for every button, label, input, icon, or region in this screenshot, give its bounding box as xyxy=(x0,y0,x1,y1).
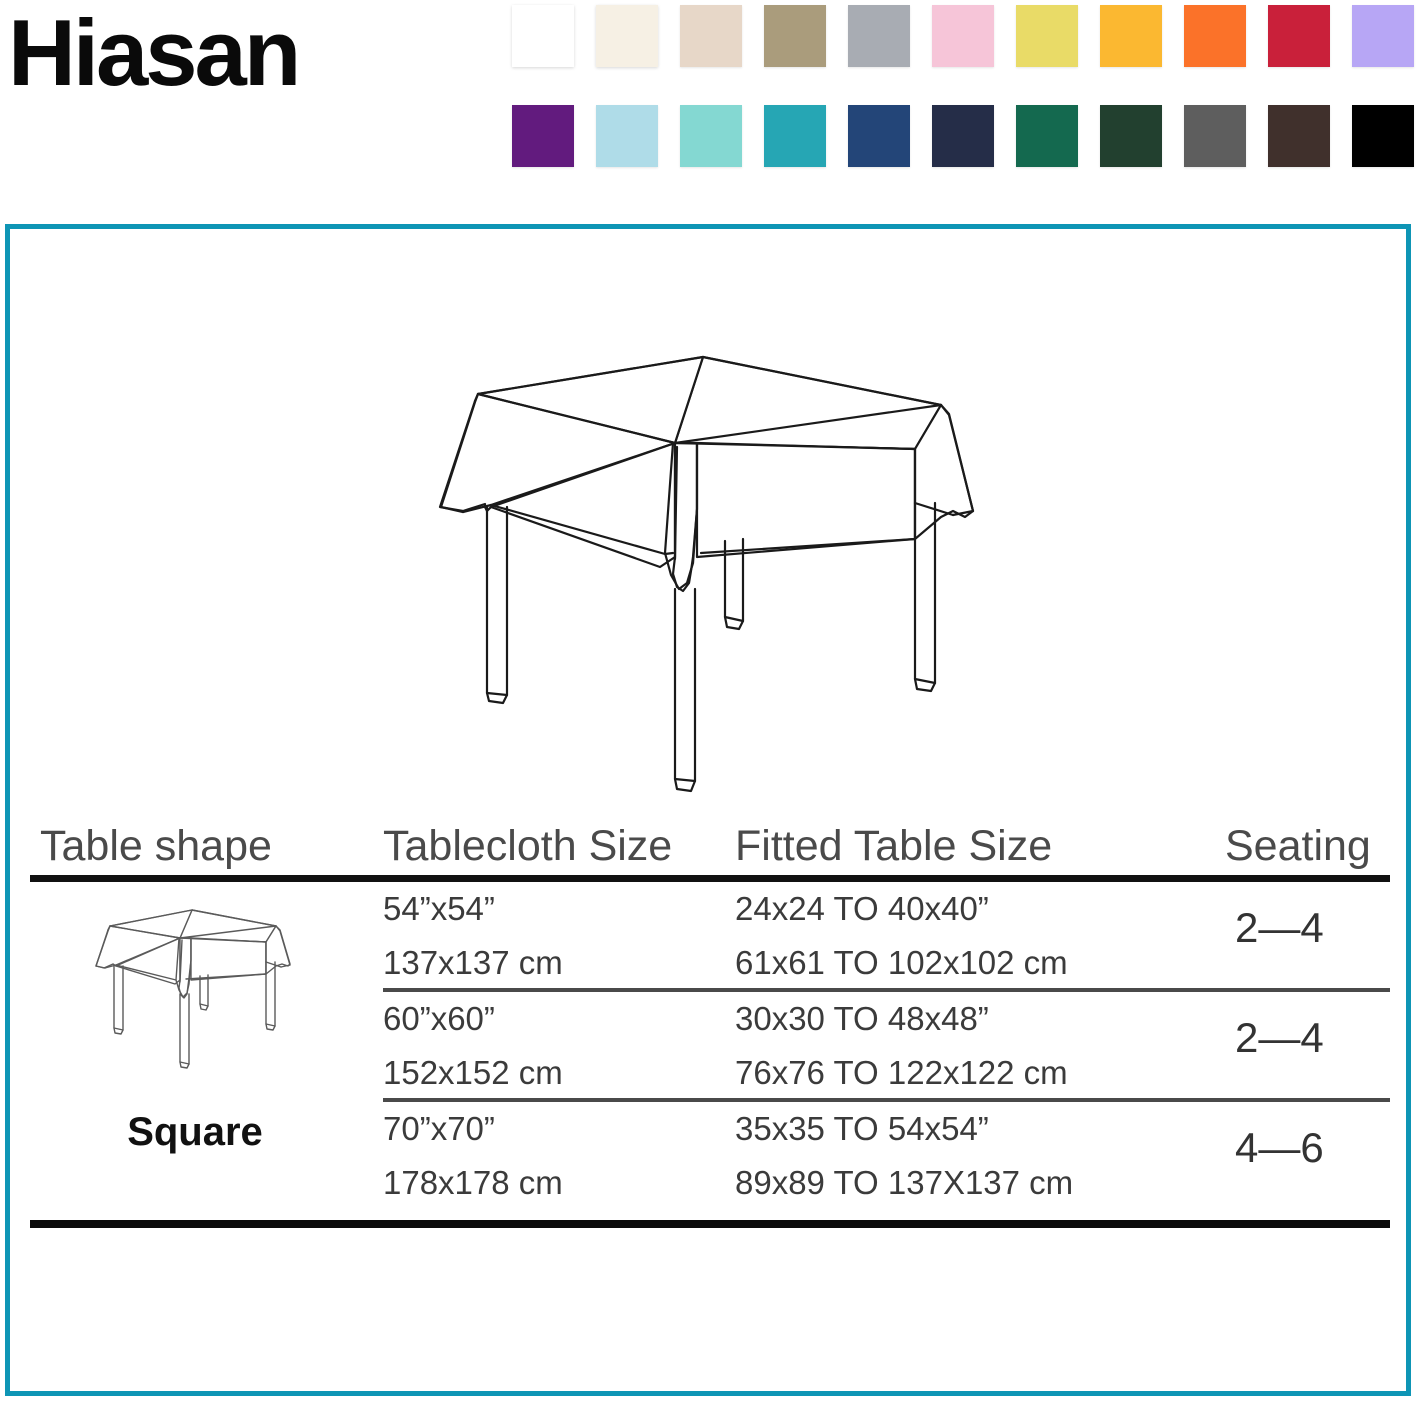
column-header-fitted-table-size: Fitted Table Size xyxy=(735,822,1052,871)
column-header-seating: Seating xyxy=(1225,822,1371,871)
hero-table-illustration xyxy=(425,339,985,809)
color-swatch-taupe[interactable] xyxy=(764,5,826,67)
cloth-size-cm: 152x152 cm xyxy=(383,1054,563,1092)
hero-table-svg xyxy=(425,339,985,809)
color-swatch-orange[interactable] xyxy=(1184,5,1246,67)
color-swatch-white[interactable] xyxy=(512,5,574,67)
size-table-header-row: Table shape Tablecloth Size Fitted Table… xyxy=(30,809,1390,871)
fitted-size-inches: 30x30 TO 48x48” xyxy=(735,1000,1068,1038)
cell-tablecloth-size: 54”x54” 137x137 cm xyxy=(383,882,563,982)
cell-fitted-table-size: 24x24 TO 40x40” 61x61 TO 102x102 cm xyxy=(735,882,1068,982)
fitted-size-cm: 89x89 TO 137X137 cm xyxy=(735,1164,1073,1202)
cloth-size-cm: 178x178 cm xyxy=(383,1164,563,1202)
color-swatch-navy-blue[interactable] xyxy=(848,105,910,167)
header-rule xyxy=(30,875,1390,882)
color-swatch-teal[interactable] xyxy=(764,105,826,167)
color-swatch-lavender[interactable] xyxy=(1352,5,1414,67)
color-swatch-purple[interactable] xyxy=(512,105,574,167)
column-header-tablecloth-size: Tablecloth Size xyxy=(383,822,672,871)
cloth-size-inches: 60”x60” xyxy=(383,1000,563,1038)
color-swatch-hunter-green[interactable] xyxy=(1100,105,1162,167)
size-table-body: Square 54”x54” 137x137 cm 24x24 TO 40x40… xyxy=(30,882,1390,1220)
color-swatch-charcoal-gray[interactable] xyxy=(1184,105,1246,167)
table-row: 54”x54” 137x137 cm 24x24 TO 40x40” 61x61… xyxy=(30,882,1390,992)
brand-logo: Hiasan xyxy=(8,6,298,100)
cell-seating: 2—4 xyxy=(1235,1014,1324,1062)
info-panel: Table shape Tablecloth Size Fitted Table… xyxy=(5,224,1411,1396)
color-swatch-black[interactable] xyxy=(1352,105,1414,167)
column-header-table-shape: Table shape xyxy=(40,822,272,871)
color-swatch-dark-brown[interactable] xyxy=(1268,105,1330,167)
color-swatch-aqua[interactable] xyxy=(680,105,742,167)
fitted-size-inches: 35x35 TO 54x54” xyxy=(735,1110,1073,1148)
color-swatch-marigold[interactable] xyxy=(1100,5,1162,67)
color-swatch-ivory[interactable] xyxy=(596,5,658,67)
cloth-size-inches: 54”x54” xyxy=(383,890,563,928)
color-swatch-yellow[interactable] xyxy=(1016,5,1078,67)
cloth-size-inches: 70”x70” xyxy=(383,1110,563,1148)
cell-fitted-table-size: 35x35 TO 54x54” 89x89 TO 137X137 cm xyxy=(735,1102,1073,1202)
size-table: Table shape Tablecloth Size Fitted Table… xyxy=(30,809,1390,1228)
color-swatch-beige[interactable] xyxy=(680,5,742,67)
color-swatch-midnight-navy[interactable] xyxy=(932,105,994,167)
color-swatch-red[interactable] xyxy=(1268,5,1330,67)
color-swatch-silver-gray[interactable] xyxy=(848,5,910,67)
cell-tablecloth-size: 70”x70” 178x178 cm xyxy=(383,1102,563,1202)
color-swatch-light-pink[interactable] xyxy=(932,5,994,67)
header-band: Hiasan xyxy=(0,0,1416,200)
cell-seating: 4—6 xyxy=(1235,1124,1324,1172)
cell-tablecloth-size: 60”x60” 152x152 cm xyxy=(383,992,563,1092)
cell-seating: 2—4 xyxy=(1235,904,1324,952)
color-swatch-grid xyxy=(512,5,1402,205)
table-bottom-rule xyxy=(30,1220,1390,1228)
fitted-size-cm: 76x76 TO 122x122 cm xyxy=(735,1054,1068,1092)
cell-fitted-table-size: 30x30 TO 48x48” 76x76 TO 122x122 cm xyxy=(735,992,1068,1092)
color-swatch-emerald[interactable] xyxy=(1016,105,1078,167)
color-swatch-row-1 xyxy=(512,5,1402,67)
fitted-size-cm: 61x61 TO 102x102 cm xyxy=(735,944,1068,982)
table-row: 70”x70” 178x178 cm 35x35 TO 54x54” 89x89… xyxy=(30,1102,1390,1220)
table-row: 60”x60” 152x152 cm 30x30 TO 48x48” 76x76… xyxy=(30,992,1390,1102)
fitted-size-inches: 24x24 TO 40x40” xyxy=(735,890,1068,928)
color-swatch-baby-blue[interactable] xyxy=(596,105,658,167)
cloth-size-cm: 137x137 cm xyxy=(383,944,563,982)
color-swatch-row-2 xyxy=(512,105,1402,167)
